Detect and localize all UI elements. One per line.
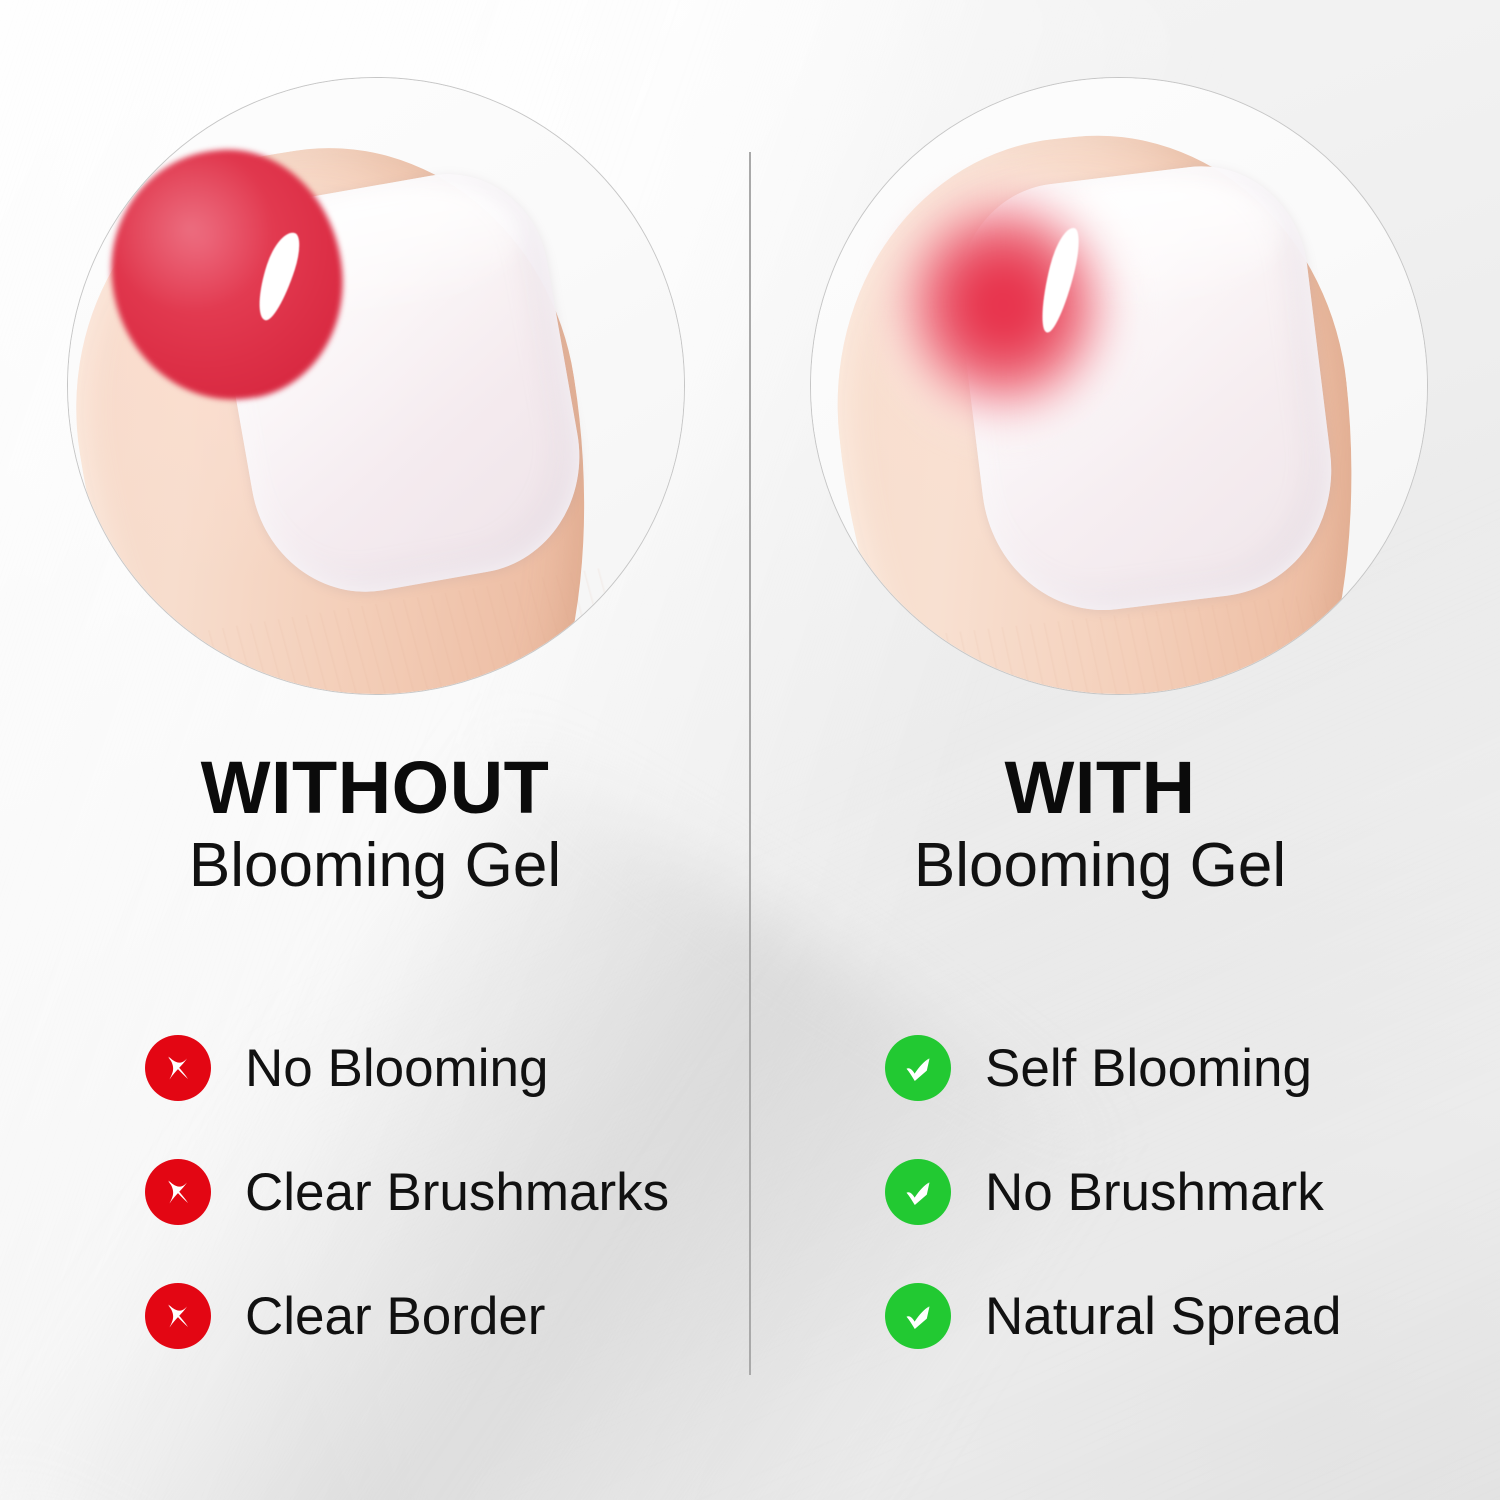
feature-label: Self Blooming: [985, 1042, 1312, 1095]
check-icon: [885, 1159, 951, 1225]
cross-icon: [145, 1035, 211, 1101]
check-icon: [885, 1283, 951, 1349]
cross-icon: [145, 1283, 211, 1349]
list-item: No Blooming: [145, 1006, 725, 1130]
check-icon: [885, 1035, 951, 1101]
column-with: WITH Blooming Gel Self Blooming: [750, 750, 1450, 1378]
photo-circle-with: [810, 77, 1428, 695]
list-item: No Brushmark: [885, 1130, 1450, 1254]
headline-without: WITHOUT: [25, 750, 725, 825]
photo-circle-without: [67, 77, 685, 695]
headline-with: WITH: [750, 750, 1450, 825]
comparison-poster: WITHOUT Blooming Gel No Blooming: [0, 0, 1500, 1500]
feature-label: No Brushmark: [985, 1166, 1324, 1219]
feature-label: Clear Brushmarks: [245, 1166, 669, 1219]
cross-icon: [145, 1159, 211, 1225]
list-item: Natural Spread: [885, 1254, 1450, 1378]
photo-background-with: [811, 78, 1427, 694]
subheadline-without: Blooming Gel: [25, 831, 725, 902]
subheadline-with: Blooming Gel: [750, 831, 1450, 902]
list-item: Self Blooming: [885, 1006, 1450, 1130]
list-item: Clear Border: [145, 1254, 725, 1378]
list-item: Clear Brushmarks: [145, 1130, 725, 1254]
feature-label: Natural Spread: [985, 1290, 1341, 1343]
feature-label: Clear Border: [245, 1290, 545, 1343]
feature-list-with: Self Blooming No Brushmark: [750, 1006, 1450, 1378]
photo-background-without: [68, 78, 684, 694]
feature-list-without: No Blooming Clear Brushmarks: [25, 1006, 725, 1378]
column-without: WITHOUT Blooming Gel No Blooming: [25, 750, 725, 1378]
feature-label: No Blooming: [245, 1042, 548, 1095]
